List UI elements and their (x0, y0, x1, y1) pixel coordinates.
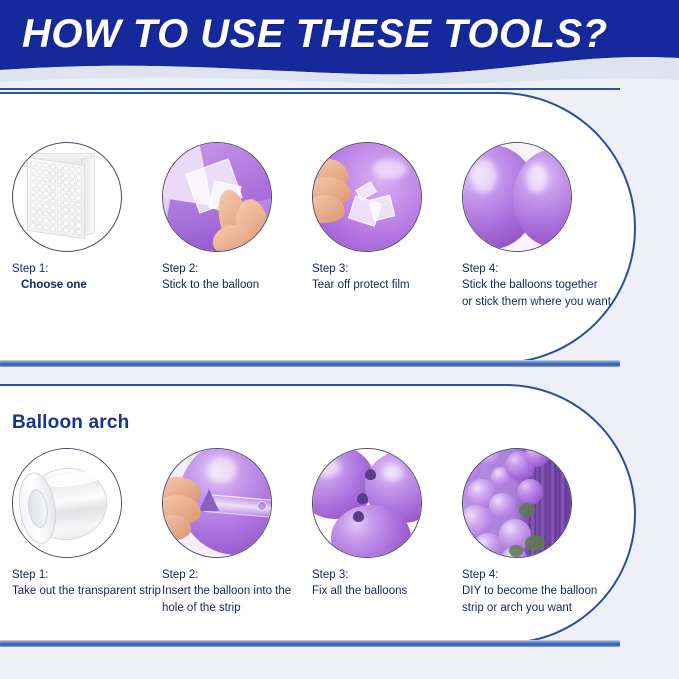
transparent-tape-roll-icon (15, 462, 120, 545)
panel-1-base-rule (0, 360, 620, 367)
step-card-1-4: Step 4: Stick the balloons together or s… (462, 142, 612, 310)
step-description: Choose one (12, 277, 162, 294)
panel-glue-dots: Step 1: Choose one Step 2: Stick to (0, 92, 636, 364)
glue-dot-sheet-icon (21, 151, 113, 243)
section-title-balloon-arch: Balloon arch (12, 412, 129, 434)
header-banner: HOW TO USE THESE TOOLS? (0, 0, 679, 88)
thumb-three-balloons (312, 448, 422, 558)
step-card-2-3: Step 3: Fix all the balloons (312, 448, 462, 600)
thumb-balloon-arch-result (462, 448, 572, 558)
step-number: Step 2: (162, 263, 312, 275)
instruction-graphic: HOW TO USE THESE TOOLS? (0, 0, 679, 679)
thumb-insert-balloon (162, 448, 272, 558)
thumb-peeling-film (312, 142, 422, 252)
panel-balloon-arch: Balloon arch Step 1: Take out the transp… (0, 384, 636, 644)
step-number: Step 1: (12, 569, 162, 581)
step-description: Take out the transparent strip (12, 583, 162, 600)
thumb-two-balloons (462, 142, 572, 252)
step-number: Step 3: (312, 263, 462, 275)
thumb-tape-roll (12, 448, 122, 558)
thumb-glue-dot-sheet (12, 142, 122, 252)
step-description: DIY to become the balloon strip or arch … (462, 583, 612, 616)
step-description: Tear off protect film (312, 277, 462, 294)
step-card-1-3: Step 3: Tear off protect film (312, 142, 462, 294)
step-description: Stick the balloons together or stick the… (462, 277, 612, 310)
step-number: Step 3: (312, 569, 462, 581)
page-title: HOW TO USE THESE TOOLS? (22, 12, 608, 57)
step-card-2-4: Step 4: DIY to become the balloon strip … (462, 448, 612, 616)
step-description: Fix all the balloons (312, 583, 462, 600)
thumb-hand-sticking-tape (162, 142, 272, 252)
step-card-2-2: Step 2: Insert the balloon into the hole… (162, 448, 312, 616)
step-number: Step 4: (462, 569, 612, 581)
step-card-2-1: Step 1: Take out the transparent strip (12, 448, 162, 600)
step-number: Step 4: (462, 263, 612, 275)
step-card-1-1: Step 1: Choose one (12, 142, 162, 294)
panel-2-base-rule (0, 640, 620, 647)
step-description: Stick to the balloon (162, 277, 312, 294)
step-card-1-2: Step 2: Stick to the balloon (162, 142, 312, 294)
step-number: Step 1: (12, 263, 162, 275)
step-description: Insert the balloon into the hole of the … (162, 583, 312, 616)
header-divider-rule (0, 88, 620, 90)
step-number: Step 2: (162, 569, 312, 581)
